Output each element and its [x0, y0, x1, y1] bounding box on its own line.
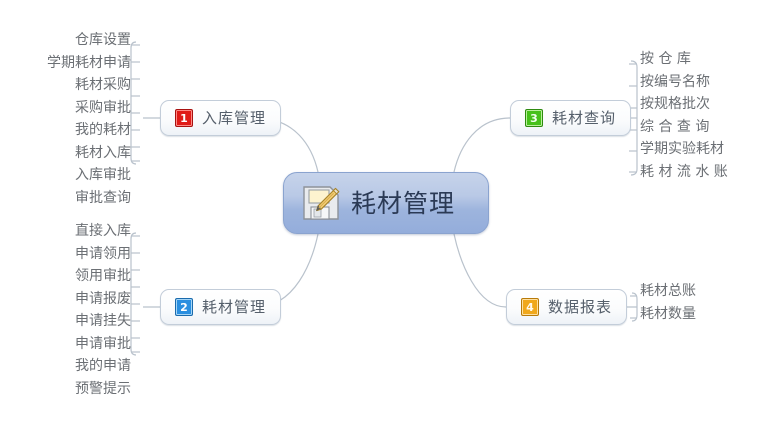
connector-center-to-branch-4	[454, 234, 506, 307]
leaf-item[interactable]: 按编号名称	[640, 75, 710, 89]
leaf-item[interactable]: 我的申请	[75, 359, 131, 373]
leaf-item[interactable]: 仓库设置	[75, 33, 131, 47]
leaf-item[interactable]: 领用审批	[75, 269, 131, 283]
leaf-item[interactable]: 直接入库	[75, 224, 131, 238]
badge-1-icon: 1	[175, 109, 193, 127]
leaf-item[interactable]: 申请审批	[75, 337, 131, 351]
center-node[interactable]: 耗材管理	[283, 172, 489, 234]
leaf-list-branch-2: 直接入库 申请领用 领用审批 申请报废 申请挂失 申请审批 我的申请 预警提示	[0, 224, 131, 404]
badge-4-icon: 4	[521, 298, 539, 316]
leaf-item[interactable]: 申请报废	[75, 292, 131, 306]
center-node-label: 耗材管理	[351, 191, 455, 216]
leaf-item[interactable]: 综 合 查 询	[640, 120, 709, 134]
branch-node-2[interactable]: 2 耗材管理	[160, 289, 281, 325]
branch-node-4-label: 数据报表	[548, 300, 612, 315]
leaf-item[interactable]: 按规格批次	[640, 97, 710, 111]
leaf-item[interactable]: 采购审批	[75, 101, 131, 115]
badge-3-icon: 3	[525, 109, 543, 127]
mindmap-canvas: 耗材管理 1 入库管理 2 耗材管理 3 耗材查询 4 数据报表 仓库设置 学期…	[0, 0, 770, 423]
save-pencil-icon	[302, 185, 340, 221]
leaf-item[interactable]: 耗材总账	[640, 284, 696, 298]
bracket-branch-1	[131, 42, 136, 164]
leaf-item[interactable]: 耗 材 流 水 账	[640, 165, 728, 179]
leaf-item[interactable]: 学期耗材申请	[47, 56, 131, 70]
leaf-list-branch-3: 按 仓 库 按编号名称 按规格批次 综 合 查 询 学期实验耗材 耗 材 流 水…	[640, 52, 770, 187]
branch-node-3-label: 耗材查询	[552, 111, 616, 126]
leaf-item[interactable]: 耗材采购	[75, 78, 131, 92]
connector-center-to-branch-3	[454, 118, 510, 172]
leaf-item[interactable]: 耗材数量	[640, 307, 696, 321]
branch-node-1[interactable]: 1 入库管理	[160, 100, 281, 136]
leaf-item[interactable]: 入库审批	[75, 168, 131, 182]
leaf-item[interactable]: 申请挂失	[75, 314, 131, 328]
leaf-item[interactable]: 申请领用	[75, 247, 131, 261]
leaf-item[interactable]: 学期实验耗材	[640, 142, 724, 156]
branch-node-3[interactable]: 3 耗材查询	[510, 100, 631, 136]
leaf-item[interactable]: 预警提示	[75, 382, 131, 396]
leaf-list-branch-1: 仓库设置 学期耗材申请 耗材采购 采购审批 我的耗材 耗材入库 入库审批 审批查…	[0, 33, 131, 213]
leaf-item[interactable]: 我的耗材	[75, 123, 131, 137]
branch-node-4[interactable]: 4 数据报表	[506, 289, 627, 325]
leaf-item[interactable]: 审批查询	[75, 191, 131, 205]
leaf-item[interactable]: 按 仓 库	[640, 52, 691, 66]
badge-2-icon: 2	[175, 298, 193, 316]
leaf-list-branch-4: 耗材总账 耗材数量	[640, 284, 770, 329]
branch-node-2-label: 耗材管理	[202, 300, 266, 315]
leaf-item[interactable]: 耗材入库	[75, 146, 131, 160]
branch-node-1-label: 入库管理	[202, 111, 266, 126]
bracket-branch-2	[131, 233, 136, 355]
